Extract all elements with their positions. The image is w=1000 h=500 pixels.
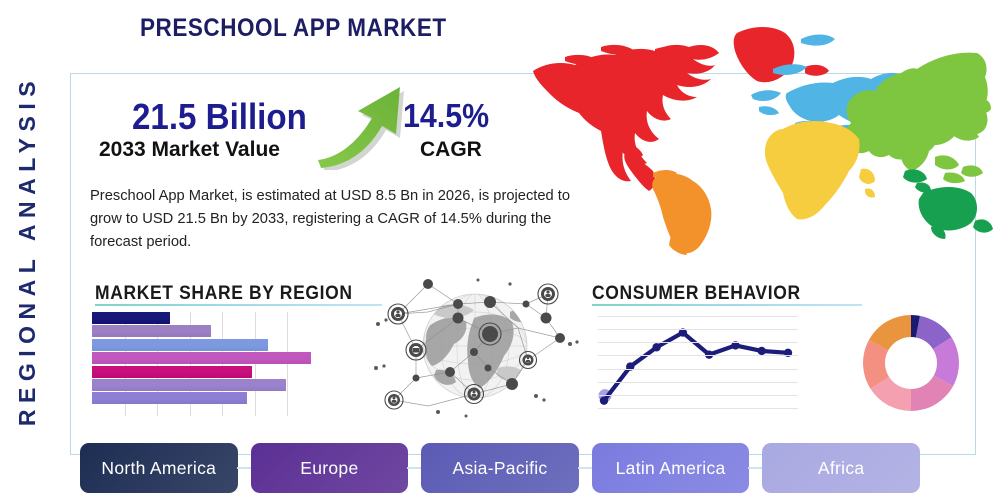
line-chart-gridlines <box>598 308 798 418</box>
region-tab-label: Asia-Pacific <box>452 458 547 479</box>
bar-chart-bar <box>92 339 268 351</box>
region-tab-africa[interactable]: Africa <box>762 443 920 493</box>
bar-chart-row <box>92 352 320 364</box>
consumer-behavior-line-chart <box>598 308 798 418</box>
region-tab-label: Latin America <box>616 458 726 479</box>
vertical-section-label: REGIONAL ANALYSIS <box>0 0 60 500</box>
global-network-globe-icon <box>370 272 580 424</box>
bar-chart-bar <box>92 352 311 364</box>
bar-chart-row <box>92 392 320 404</box>
bar-chart-bar <box>92 379 286 391</box>
market-value-stat: 21.5 Billion <box>132 96 307 138</box>
cagr-stat-label: CAGR <box>420 138 482 162</box>
line-chart-gridline <box>598 316 798 317</box>
bar-chart-bar <box>92 392 247 404</box>
line-chart-gridline <box>598 342 798 343</box>
region-tab-latin-america[interactable]: Latin America <box>592 443 750 493</box>
cagr-stat: 14.5% <box>403 97 489 135</box>
line-chart-gridline <box>598 382 798 383</box>
vertical-section-label-text: REGIONAL ANALYSIS <box>15 74 42 425</box>
world-map <box>505 5 997 257</box>
page-title: PRESCHOOL APP MARKET <box>140 14 447 43</box>
growth-arrow-icon <box>312 84 412 170</box>
bar-chart-bars <box>92 312 320 404</box>
donut-chart-plot <box>856 308 966 418</box>
infographic-root: REGIONAL ANALYSIS PRESCHOOL APP MARKET 2… <box>0 0 1000 500</box>
region-tab-asia-pacific[interactable]: Asia-Pacific <box>421 443 579 493</box>
line-chart-gridline <box>598 395 798 396</box>
bar-chart-bar <box>92 366 252 378</box>
market-value-stat-label: 2033 Market Value <box>99 138 280 162</box>
tab-connector <box>407 467 422 469</box>
line-chart-gridline <box>598 329 798 330</box>
line-chart-gridline <box>598 369 798 370</box>
region-tab-label: North America <box>101 458 216 479</box>
bar-chart-row <box>92 312 320 324</box>
bar-chart-heading-rule <box>95 304 382 306</box>
bar-chart-row <box>92 366 320 378</box>
donut-chart <box>856 308 966 418</box>
bar-chart-row <box>92 339 320 351</box>
region-tab-label: Europe <box>300 458 358 479</box>
region-tab-north-america[interactable]: North America <box>80 443 238 493</box>
line-chart-heading-rule <box>592 304 862 306</box>
line-chart-heading: CONSUMER BEHAVIOR <box>592 283 801 305</box>
region-tabs: North AmericaEuropeAsia-PacificLatin Ame… <box>80 443 920 493</box>
bar-chart-bar <box>92 312 170 324</box>
bar-chart-row <box>92 379 320 391</box>
tab-connector <box>578 467 593 469</box>
tab-connector <box>748 467 763 469</box>
bar-chart-row <box>92 325 320 337</box>
tab-connector <box>237 467 252 469</box>
market-share-bar-chart <box>92 312 320 416</box>
bar-chart-bar <box>92 325 211 337</box>
line-chart-gridline <box>598 408 798 409</box>
region-tab-label: Africa <box>818 458 865 479</box>
bar-chart-heading: MARKET SHARE BY REGION <box>95 283 353 305</box>
region-tab-europe[interactable]: Europe <box>251 443 409 493</box>
line-chart-gridline <box>598 355 798 356</box>
